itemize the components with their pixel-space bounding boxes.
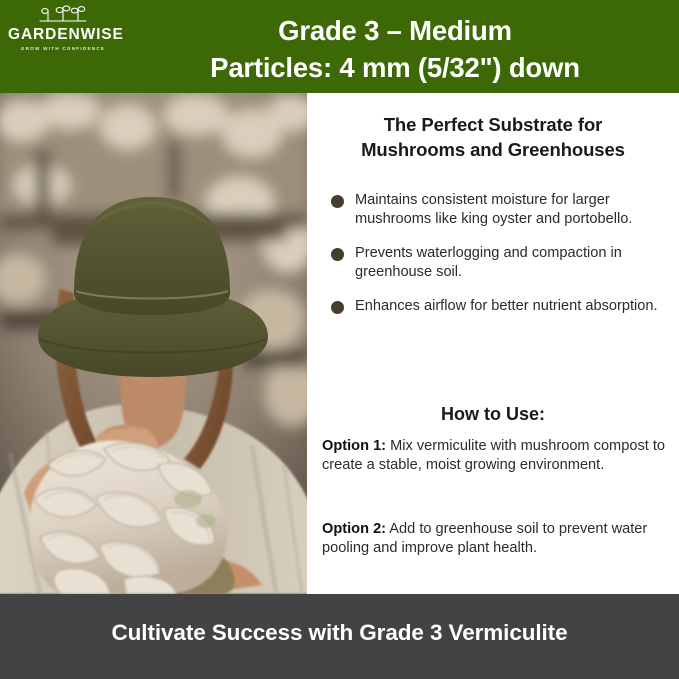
panel-heading-line2: Mushrooms and Greenhouses (323, 138, 663, 163)
logo-wordmark: GARDENWISE (8, 27, 118, 43)
list-item: Maintains consistent moisture for larger… (325, 191, 675, 230)
header-title: Grade 3 – Medium Particles: 4 mm (5/32")… (118, 13, 672, 86)
brand-logo: GARDENWISE GROW WITH CONFIDENCE (8, 4, 118, 51)
header-title-line1: Grade 3 – Medium (278, 15, 512, 46)
product-infographic: GARDENWISE GROW WITH CONFIDENCE Grade 3 … (0, 0, 679, 679)
list-item-text: Maintains consistent moisture for larger… (355, 192, 632, 227)
bullet-dot-icon (331, 301, 344, 314)
bullet-dot-icon (331, 248, 344, 261)
usage-option-2-label: Option 2: (322, 521, 386, 537)
benefits-list: Maintains consistent moisture for larger… (325, 191, 675, 316)
footer-banner: Cultivate Success with Grade 3 Vermiculi… (0, 594, 679, 679)
usage-option-1-label: Option 1: (322, 438, 386, 454)
header-title-line2: Particles: 4 mm (5/32") down (118, 50, 672, 87)
footer-banner-text: Cultivate Success with Grade 3 Vermiculi… (0, 620, 679, 646)
how-to-use-title: How to Use: (323, 404, 663, 425)
usage-option-1: Option 1: Mix vermiculite with mushroom … (322, 437, 672, 476)
list-item-text: Prevents waterlogging and compaction in … (355, 245, 622, 280)
list-item: Enhances airflow for better nutrient abs… (325, 297, 675, 316)
info-panel: The Perfect Substrate for Mushrooms and … (307, 93, 679, 594)
list-item-text: Enhances airflow for better nutrient abs… (355, 298, 658, 314)
panel-heading: The Perfect Substrate for Mushrooms and … (323, 113, 663, 162)
bullet-dot-icon (331, 195, 344, 208)
header-bar: GARDENWISE GROW WITH CONFIDENCE Grade 3 … (0, 0, 679, 93)
panel-heading-line1: The Perfect Substrate for (384, 114, 603, 135)
usage-option-2: Option 2: Add to greenhouse soil to prev… (322, 520, 672, 559)
logo-tagline: GROW WITH CONFIDENCE (8, 46, 118, 51)
photo-illustration (0, 93, 307, 594)
seedling-sprouts-icon (32, 4, 94, 26)
list-item: Prevents waterlogging and compaction in … (325, 244, 675, 283)
product-photo (0, 93, 307, 594)
